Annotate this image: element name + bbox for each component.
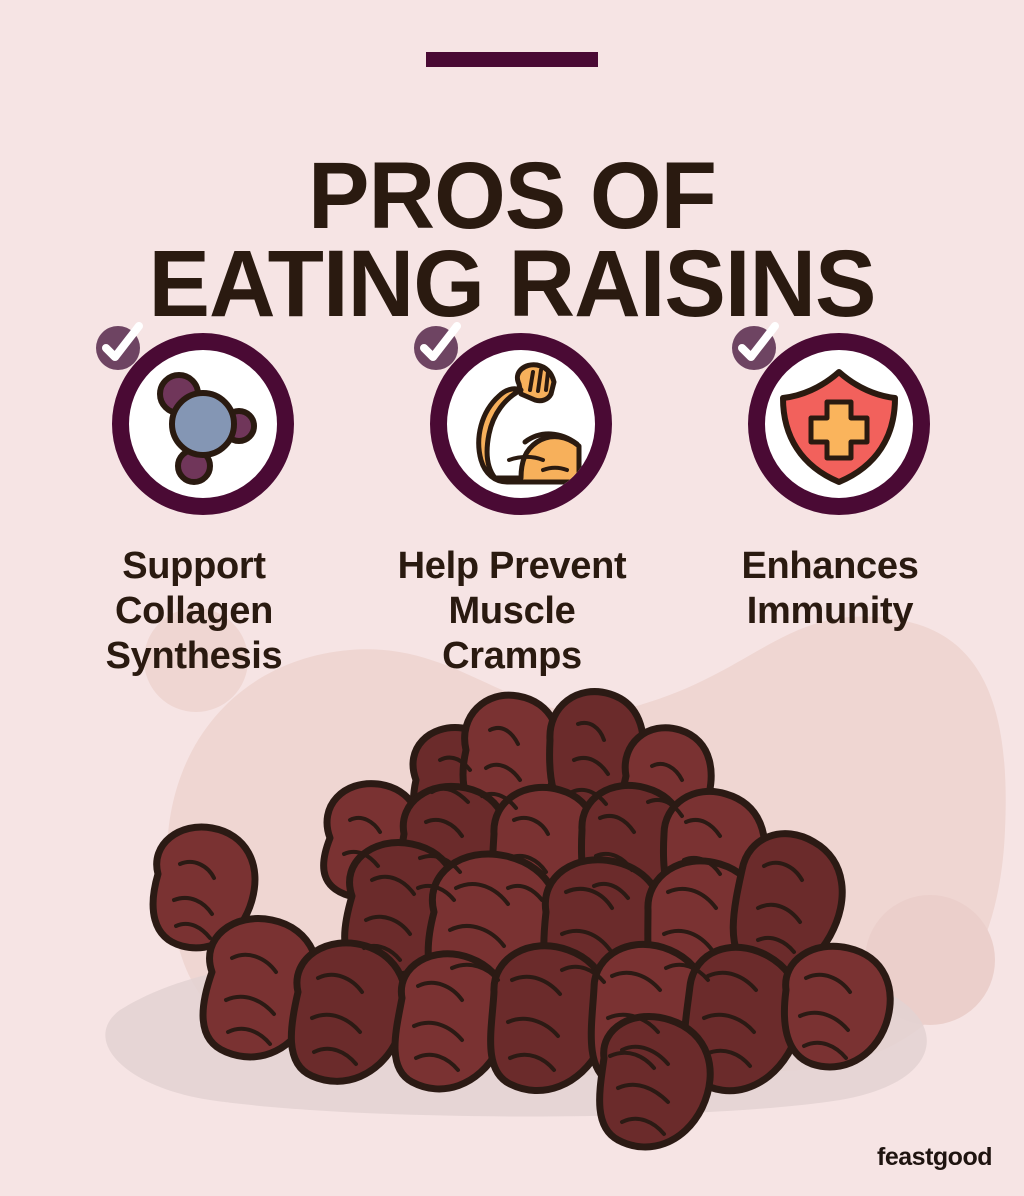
benefit-item-immunity: Enhances Immunity xyxy=(671,322,989,634)
icon-wrapper xyxy=(94,322,294,514)
title-line-2: EATING RAISINS xyxy=(15,240,1008,328)
infographic-poster: PROS OF EATING RAISINS xyxy=(0,0,1024,1196)
checkmark-badge xyxy=(94,322,144,372)
shield-cross-icon xyxy=(765,350,913,498)
icon-wrapper xyxy=(412,322,612,514)
icon-wrapper xyxy=(730,322,930,514)
pile-of-raisins xyxy=(0,620,1024,1180)
brand-logo: feastgood xyxy=(877,1143,992,1172)
molecule-icon xyxy=(129,350,277,498)
title-accent-rule xyxy=(426,52,598,67)
page-title: PROS OF EATING RAISINS xyxy=(15,152,1008,329)
flexed-bicep-icon xyxy=(447,350,595,498)
title-line-1: PROS OF xyxy=(15,152,1008,240)
checkmark-badge xyxy=(730,322,780,372)
checkmark-badge xyxy=(412,322,462,372)
